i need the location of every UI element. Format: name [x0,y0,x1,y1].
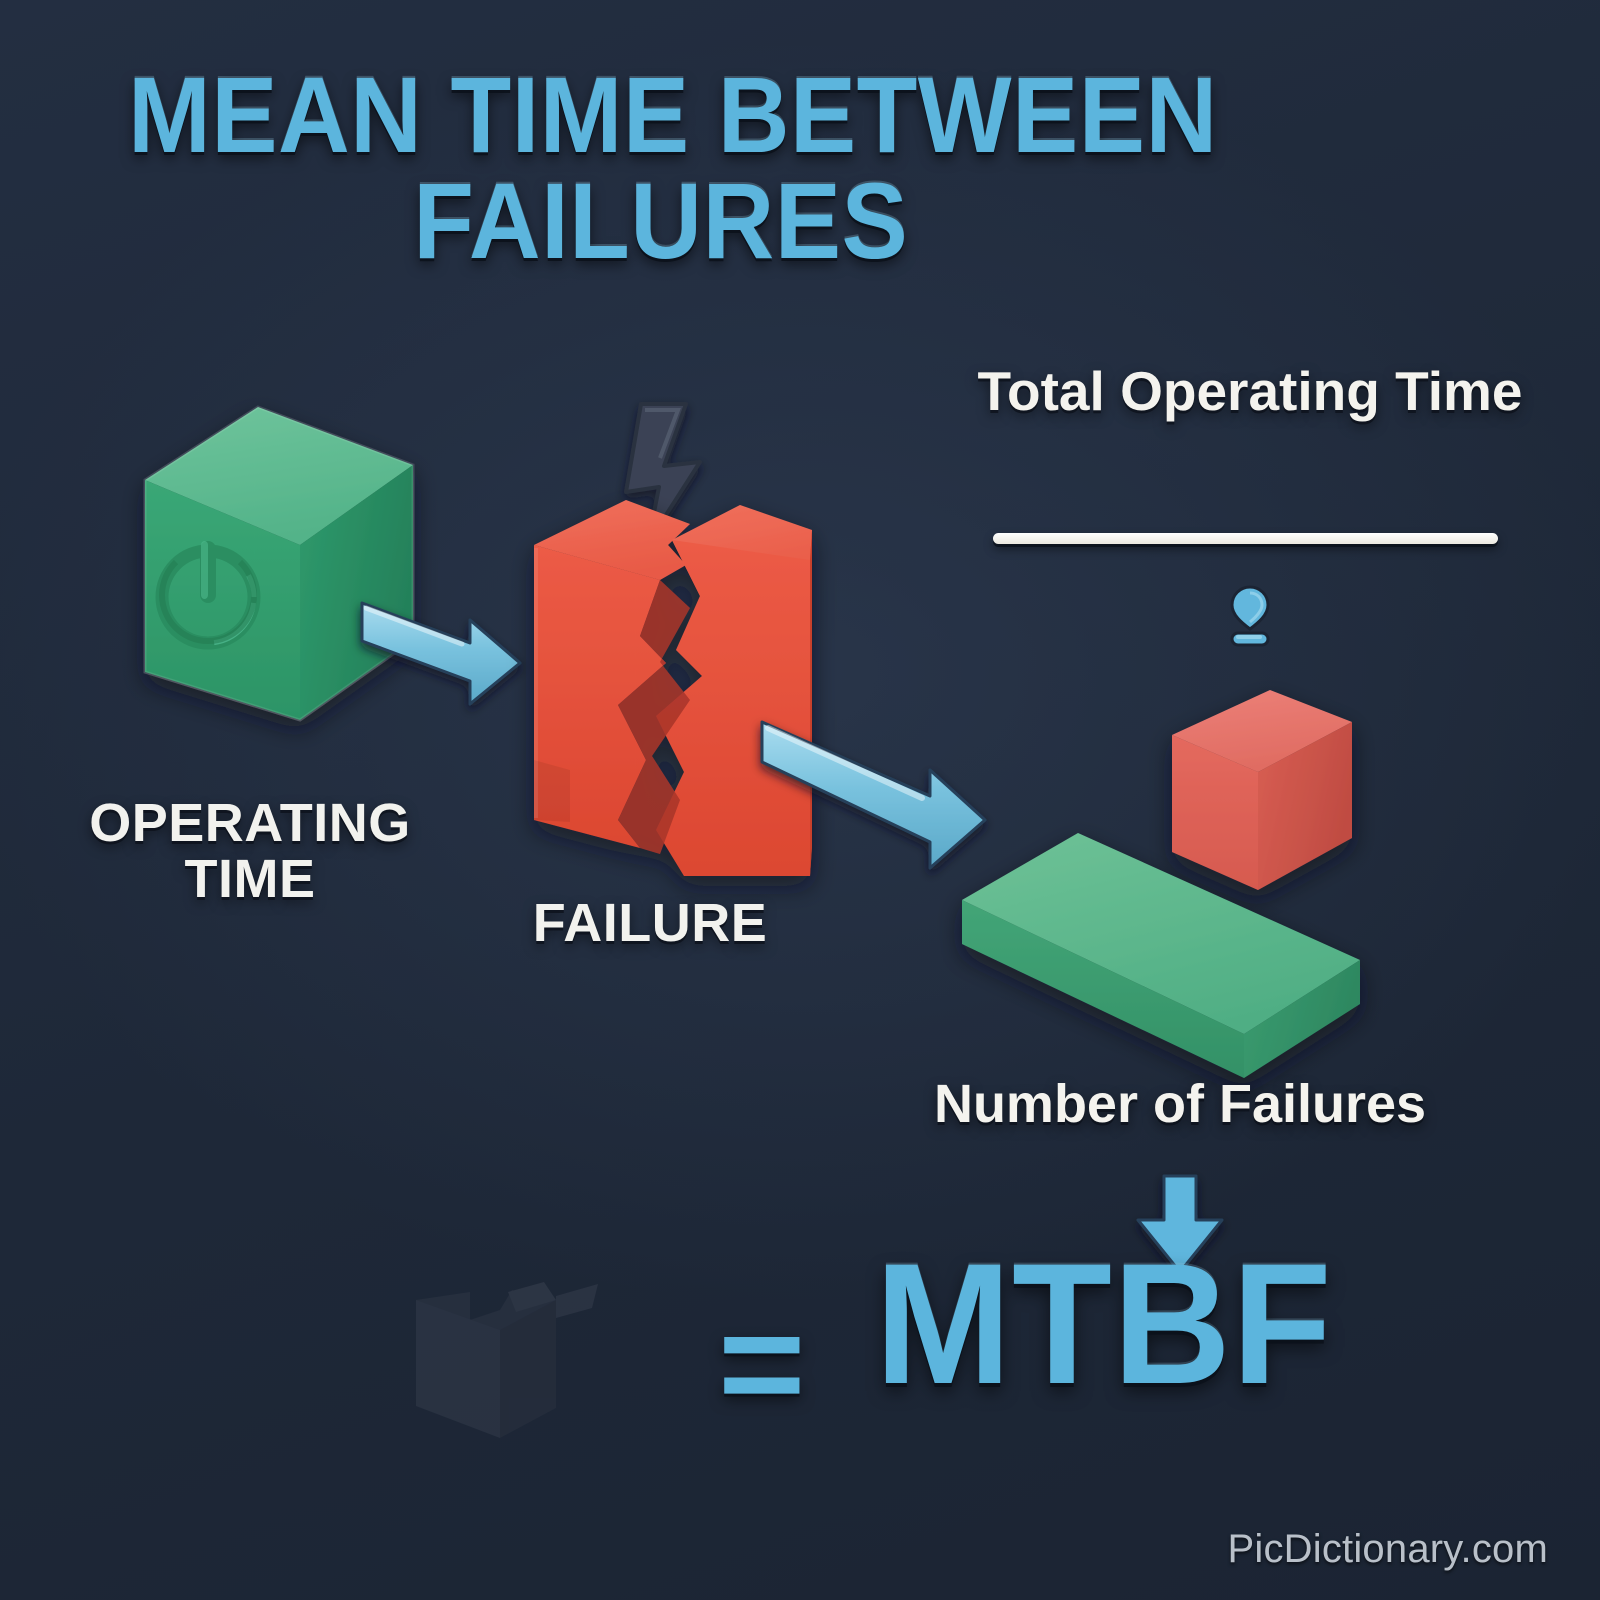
numerator-label: Total Operating Time [950,362,1550,421]
page-title-line-1: MEAN TIME BETWEEN [128,62,1370,168]
failure-cube [534,500,812,880]
mtbf-result: MTBF [875,1238,1333,1410]
power-icon [162,541,254,643]
operating-time-cube [145,407,413,720]
denominator-label: Number of Failures [840,1075,1520,1133]
operating-time-label: OPERATING TIME [40,795,460,907]
watermark: PicDictionary.com [1227,1527,1548,1572]
page-title: MEAN TIME BETWEEN FAILURES [128,62,1370,274]
infographic-canvas: MEAN TIME BETWEEN FAILURES [0,0,1600,1600]
fraction-bar [993,533,1498,544]
arrow-right-icon-1 [362,603,520,704]
arrow-right-icon-2 [762,722,985,868]
broken-box-icon [416,1282,598,1438]
failure-unit-cube [1172,690,1352,890]
operating-time-slab [962,833,1360,1078]
person-pin-icon [1228,585,1272,647]
page-title-line-2: FAILURES [413,168,1370,274]
failure-label: FAILURE [470,895,830,951]
equals-sign: = [718,1288,806,1438]
failure-cube-right-face [810,531,812,876]
lightning-bolt-icon [626,404,700,543]
